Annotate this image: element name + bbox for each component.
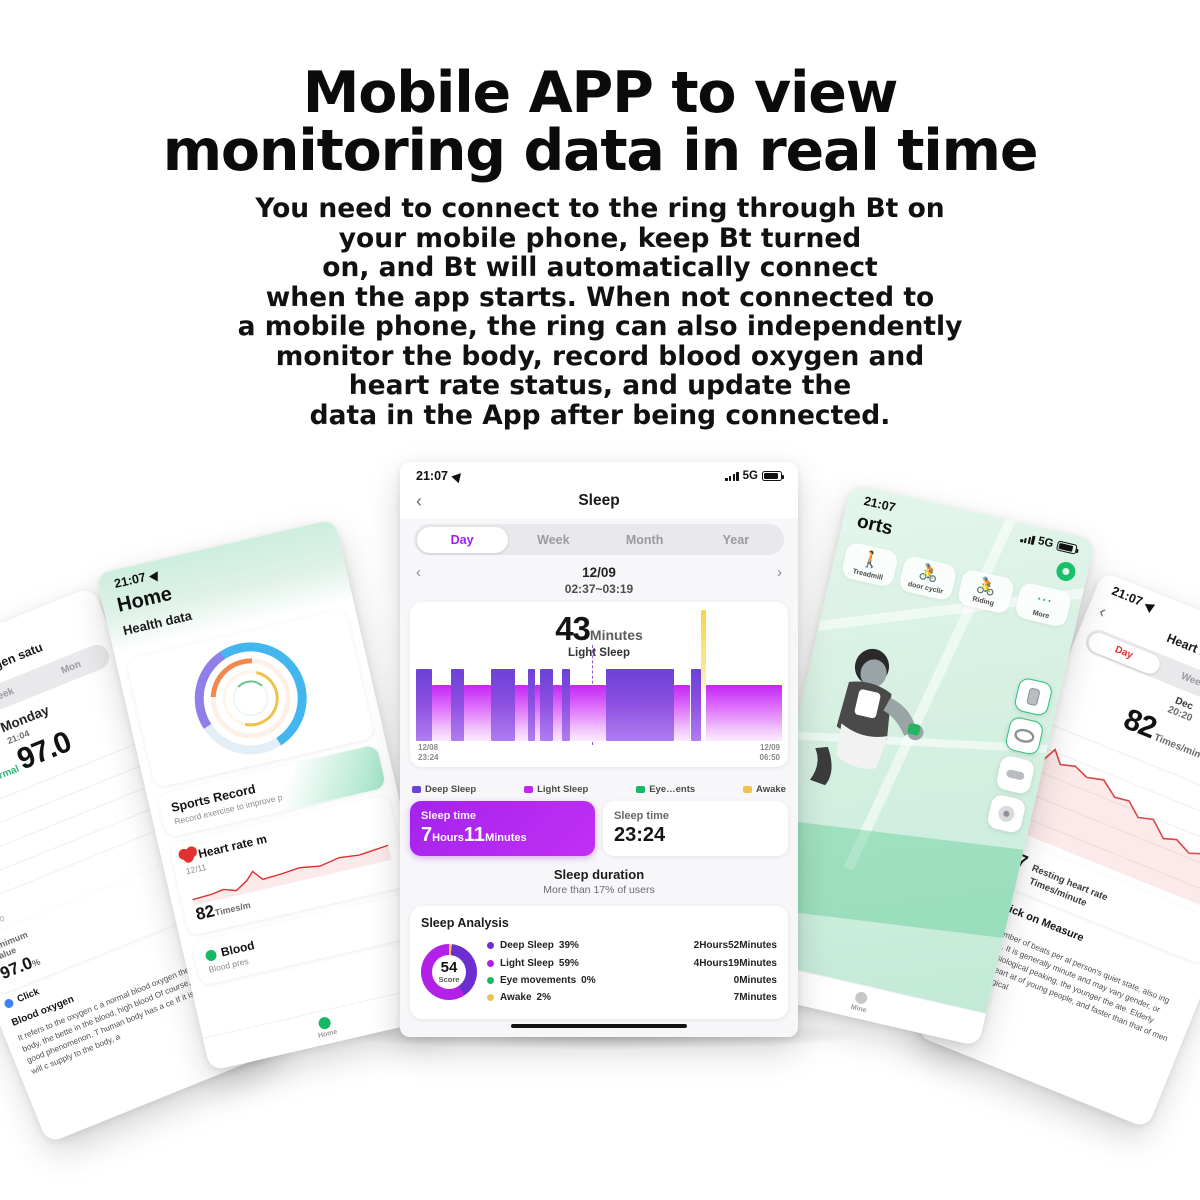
status-bar-sleep: 21:07 5G	[400, 462, 798, 485]
analysis-dot-deep	[487, 942, 494, 949]
sleep-segment	[491, 669, 515, 741]
sleep-chart-legend: Deep Sleep Light Sleep Eye…ents Awake	[400, 775, 798, 799]
analysis-dot-light	[487, 960, 494, 967]
analysis-dot-eye	[487, 977, 494, 984]
sleep-segment	[701, 610, 705, 696]
network-label-sleep: 5G	[743, 470, 758, 482]
analysis-time-eye: 0Minutes	[734, 975, 777, 986]
analysis-time-light: 4Hours19Minutes	[694, 958, 777, 969]
battery-icon-sleep	[762, 471, 782, 481]
analysis-dot-awake	[487, 994, 494, 1001]
analysis-percent-awake: 2%	[537, 992, 551, 1003]
analysis-percent-eye: 0%	[581, 975, 595, 986]
sleep-segment	[416, 669, 432, 741]
location-arrow-icon-sleep	[451, 469, 464, 482]
sleep-score-value: 54	[441, 960, 458, 975]
legend-swatch-light	[524, 786, 533, 793]
analysis-row-awake: Awake 2% 7Minutes	[487, 989, 777, 1006]
phone-sleep: 21:07 5G ‹ Sleep Day Week Month Year	[400, 462, 798, 1037]
analysis-row-deep: Deep Sleep 39% 2Hours52Minutes	[487, 937, 777, 954]
gear-icon[interactable]	[1055, 560, 1078, 583]
nav-label-home: Home	[317, 1029, 338, 1040]
sleep-score-donut: 54 Score	[421, 944, 477, 1000]
sleep-duration-title: Sleep duration	[400, 867, 798, 882]
chart-time-axis: 12/08 23:24 12/09 06:50	[410, 741, 788, 763]
title-line-2: monitoring data in real time	[0, 122, 1200, 180]
page-title-sleep: Sleep	[400, 492, 798, 510]
poster-root: Mobile APP to view monitoring data in re…	[0, 0, 1200, 1200]
date-row-sleep: ‹ 12/09 ›	[400, 555, 798, 582]
nav-item-mine[interactable]: Mine	[850, 990, 870, 1014]
tab-month-sleep[interactable]: Month	[599, 527, 690, 553]
subtitle-line-6: monitor the body, record blood oxygen an…	[0, 342, 1200, 372]
sleep-segment	[706, 685, 782, 741]
subtitle-line-5: a mobile phone, the ring can also indepe…	[0, 312, 1200, 342]
chart-start-time: 23:24	[418, 753, 438, 763]
battery-icon-sports	[1056, 540, 1078, 554]
analysis-name-light: Light Sleep	[500, 958, 554, 969]
sleep-duration-subtitle: More than 17% of users	[400, 884, 798, 896]
location-arrow-icon-heart	[1145, 600, 1157, 613]
analysis-name-deep: Deep Sleep	[500, 940, 554, 951]
heart-rate-value: 82	[194, 901, 217, 924]
nav-bar-sleep: ‹ Sleep	[400, 485, 798, 518]
next-date-icon-sleep[interactable]: ›	[777, 564, 782, 581]
sleep-segment	[528, 669, 535, 741]
analysis-time-awake: 7Minutes	[734, 992, 777, 1003]
legend-label-awake: Awake	[756, 784, 786, 795]
nav-item-home[interactable]: Home	[314, 1015, 338, 1040]
analysis-name-awake: Awake	[500, 992, 532, 1003]
sleep-segment	[606, 669, 674, 741]
analysis-row-eye: Eye movements 0% 0Minutes	[487, 972, 777, 989]
status-time-sleep: 21:07	[416, 469, 448, 483]
sleep-hours-unit: Hours	[432, 832, 464, 844]
sleep-segment	[432, 685, 450, 741]
sleep-segment	[570, 685, 607, 741]
sleep-segment	[451, 669, 464, 741]
subtitle-line-8: data in the App after being connected.	[0, 401, 1200, 431]
sleep-time-tiles: Sleep time 7Hours11Minutes Sleep time 23…	[400, 799, 798, 856]
sleep-segment	[553, 685, 562, 741]
legend-label-eye: Eye…ents	[649, 784, 695, 795]
date-range-sleep: 02:37~03:19	[400, 582, 798, 602]
sleep-hours: 7	[421, 824, 432, 846]
analysis-name-eye: Eye movements	[500, 975, 576, 986]
subtitle-line-7: heart rate status, and update the	[0, 371, 1200, 401]
activity-rings	[183, 631, 317, 765]
tab-day-sleep[interactable]: Day	[417, 527, 508, 553]
legend-swatch-deep	[412, 786, 421, 793]
headline-stage: Light Sleep	[410, 647, 788, 659]
nav-label-mine: Mine	[850, 1004, 867, 1014]
home-indicator	[511, 1024, 686, 1028]
sleep-segment	[464, 685, 491, 741]
subtitle-line-3: on, and Bt will automatically connect	[0, 253, 1200, 283]
sleep-start-tile[interactable]: Sleep time 23:24	[603, 801, 788, 856]
heart-icon	[181, 849, 196, 864]
prev-date-icon-sleep[interactable]: ‹	[416, 564, 421, 581]
page-title: Mobile APP to view monitoring data in re…	[0, 0, 1200, 180]
sleep-segment	[515, 685, 528, 741]
headline-row: 43Minutes	[410, 602, 788, 648]
sleep-segment	[674, 685, 690, 741]
subtitle-line-1: You need to connect to the ring through …	[0, 194, 1200, 224]
legend-label-light: Light Sleep	[537, 784, 588, 795]
sleep-segment	[562, 669, 569, 741]
chart-end-date: 12/09	[760, 743, 780, 753]
sleep-duration-summary: Sleep duration More than 17% of users	[400, 856, 798, 899]
sleep-segment	[691, 669, 702, 741]
period-tabs-sleep[interactable]: Day Week Month Year	[414, 524, 784, 555]
chart-end-time: 06:50	[760, 753, 780, 763]
analysis-row-light: Light Sleep 59% 4Hours19Minutes	[487, 954, 777, 971]
sleep-analysis-card: Sleep Analysis 54 Score Deep Sleep 39%	[410, 906, 788, 1019]
legend-item-light: Light Sleep	[524, 784, 588, 795]
sleep-minutes-unit: Minutes	[485, 832, 527, 844]
tab-week-sleep[interactable]: Week	[508, 527, 599, 553]
analysis-percent-light: 59%	[559, 958, 579, 969]
title-line-1: Mobile APP to view	[303, 60, 897, 126]
signal-icon-sports	[1020, 532, 1035, 545]
tab-year-sleep[interactable]: Year	[690, 527, 781, 553]
sleep-analysis-rows: Deep Sleep 39% 2Hours52Minutes Light Sle…	[487, 937, 777, 1007]
subtitle-line-2: your mobile phone, keep Bt turned	[0, 224, 1200, 254]
current-date-sleep: 12/09	[582, 565, 616, 580]
header: Mobile APP to view monitoring data in re…	[0, 0, 1200, 430]
heart-rate-unit: Times/m	[214, 900, 252, 918]
analysis-time-deep: 2Hours52Minutes	[694, 940, 777, 951]
sleep-start-tile-label: Sleep time	[614, 810, 777, 822]
analysis-percent-deep: 39%	[559, 940, 579, 951]
headline-unit: Minutes	[590, 627, 643, 643]
sleep-chart-card: 43Minutes Light Sleep 12/08 23:24 12/09 …	[410, 602, 788, 767]
signal-icon-sleep	[725, 471, 738, 481]
reading-status: Normal	[0, 764, 21, 787]
sleep-stage-chart	[416, 669, 782, 741]
sleep-duration-tile-label: Sleep time	[421, 810, 584, 822]
mine-person-icon	[854, 991, 868, 1005]
sleep-analysis-title: Sleep Analysis	[421, 916, 777, 930]
sleep-start-value: 23:24	[614, 824, 777, 847]
sleep-screen: 21:07 5G ‹ Sleep Day Week Month Year	[400, 462, 798, 1037]
headline-value: 43	[555, 610, 590, 647]
page-subtitle: You need to connect to the ring through …	[0, 194, 1200, 430]
sleep-minutes: 11	[464, 824, 485, 846]
legend-item-eye: Eye…ents	[636, 784, 695, 795]
legend-item-deep: Deep Sleep	[412, 784, 476, 795]
sleep-score-label: Score	[439, 975, 460, 984]
back-icon-sleep[interactable]: ‹	[416, 492, 422, 510]
sleep-segment	[540, 669, 553, 741]
subtitle-line-4: when the app starts. When not connected …	[0, 283, 1200, 313]
home-nav-icon	[318, 1016, 332, 1030]
network-label-sports: 5G	[1037, 535, 1055, 550]
chart-start-date: 12/08	[418, 743, 438, 753]
back-icon-heart[interactable]: ‹	[1097, 602, 1109, 621]
sleep-duration-tile[interactable]: Sleep time 7Hours11Minutes	[410, 801, 595, 856]
legend-label-deep: Deep Sleep	[425, 784, 476, 795]
location-arrow-icon	[149, 568, 162, 581]
legend-item-awake: Awake	[743, 784, 786, 795]
legend-swatch-eye	[636, 786, 645, 793]
legend-swatch-awake	[743, 786, 752, 793]
blood-icon	[204, 948, 217, 961]
